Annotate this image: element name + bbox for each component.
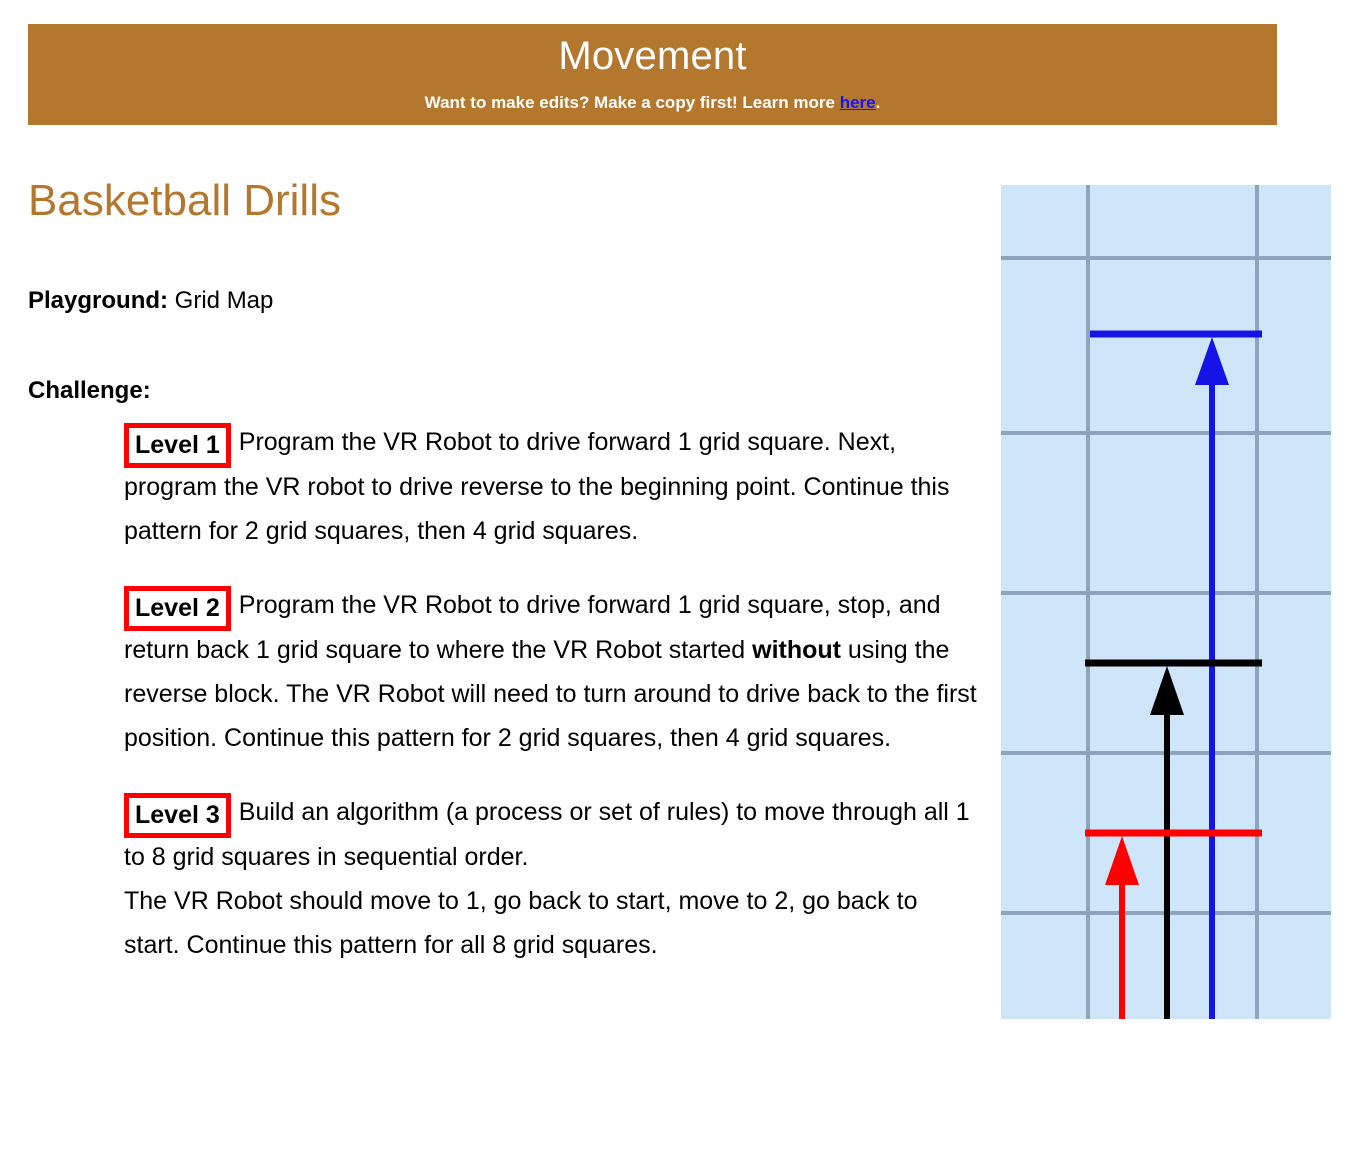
banner-title: Movement (28, 33, 1277, 79)
grid-map-svg (1001, 185, 1331, 1019)
level-item-1: Level 1Program the VR Robot to drive for… (124, 420, 978, 553)
level-1-badge: Level 1 (124, 423, 231, 468)
grid-map-diagram (1001, 185, 1331, 1019)
banner-subtitle: Want to make edits? Make a copy first! L… (28, 92, 1277, 114)
level-item-2: Level 2Program the VR Robot to drive for… (124, 583, 978, 760)
playground-value: Grid Map (168, 287, 273, 314)
level-1-text: Program the VR Robot to drive forward 1 … (124, 428, 949, 545)
banner-subtitle-period: . (876, 93, 881, 112)
level-3-text-line2: The VR Robot should move to 1, go back t… (124, 887, 917, 959)
level-3-badge: Level 3 (124, 793, 231, 838)
playground-line: Playground: Grid Map (28, 286, 978, 316)
level-2-badge: Level 2 (124, 586, 231, 631)
learn-more-link[interactable]: here (840, 93, 876, 112)
notice-banner: Movement Want to make edits? Make a copy… (28, 24, 1277, 125)
level-2-emphasis: without (752, 636, 841, 664)
challenge-heading: Challenge: (28, 376, 978, 406)
playground-label: Playground: (28, 287, 168, 314)
level-list: Level 1Program the VR Robot to drive for… (28, 420, 978, 967)
main-content: Basketball Drills Playground: Grid Map C… (28, 175, 978, 967)
banner-subtitle-text: Want to make edits? Make a copy first! L… (425, 93, 840, 112)
level-3-text-line1: Build an algorithm (a process or set of … (124, 798, 970, 871)
page-title: Basketball Drills (28, 175, 978, 227)
level-item-3: Level 3Build an algorithm (a process or … (124, 790, 978, 967)
